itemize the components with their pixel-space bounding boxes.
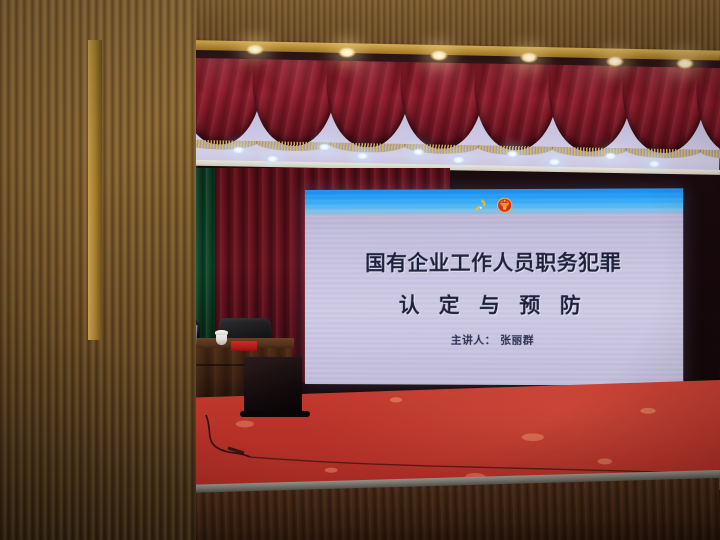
recessed-downlight (452, 156, 465, 164)
recessed-downlight (648, 160, 661, 168)
slide-emblems (305, 195, 683, 214)
red-nameplate (231, 341, 257, 351)
recessed-downlight (548, 158, 561, 166)
warm-stage-spotlight (338, 47, 356, 58)
slide-title-line-2: 认 定 与 预 防 (305, 288, 683, 319)
china-national-emblem-icon (496, 196, 513, 213)
warm-stage-spotlight (246, 44, 264, 55)
recessed-downlight (266, 155, 279, 163)
valance-swag (251, 59, 337, 147)
auditorium-scene: 国有企业工作人员职务犯罪 认 定 与 预 防 主讲人： 张丽群 (0, 0, 720, 540)
slide-title-line-1: 国有企业工作人员职务犯罪 (305, 245, 683, 276)
recessed-downlight (604, 152, 617, 160)
proscenium-gold-trim-left (88, 40, 102, 340)
cpc-party-emblem-icon (472, 196, 489, 213)
recessed-downlight (506, 150, 519, 158)
projection-screen[interactable]: 国有企业工作人员职务犯罪 认 定 与 预 防 主讲人： 张丽群 (305, 188, 683, 385)
valance-swag (547, 65, 633, 153)
stage-floor-monitor-base (240, 411, 310, 417)
recessed-downlight (232, 146, 245, 154)
valance-swag (399, 62, 485, 150)
recessed-downlight (412, 148, 425, 156)
warm-stage-spotlight (606, 56, 624, 67)
recessed-downlight (356, 152, 369, 160)
slide-presenter-label: 主讲人： 张丽群 (305, 332, 683, 348)
warm-stage-spotlight (520, 52, 538, 63)
valance-swag (473, 63, 559, 151)
stage-floor-monitor (244, 357, 302, 415)
lidded-teacup (216, 333, 227, 345)
valance-swag (325, 60, 411, 148)
warm-stage-spotlight (430, 50, 448, 61)
screen-sheen (305, 215, 683, 224)
recessed-downlight (318, 143, 331, 151)
valance-swag (621, 66, 707, 154)
valance-swag (695, 68, 720, 156)
warm-stage-spotlight (676, 58, 694, 69)
